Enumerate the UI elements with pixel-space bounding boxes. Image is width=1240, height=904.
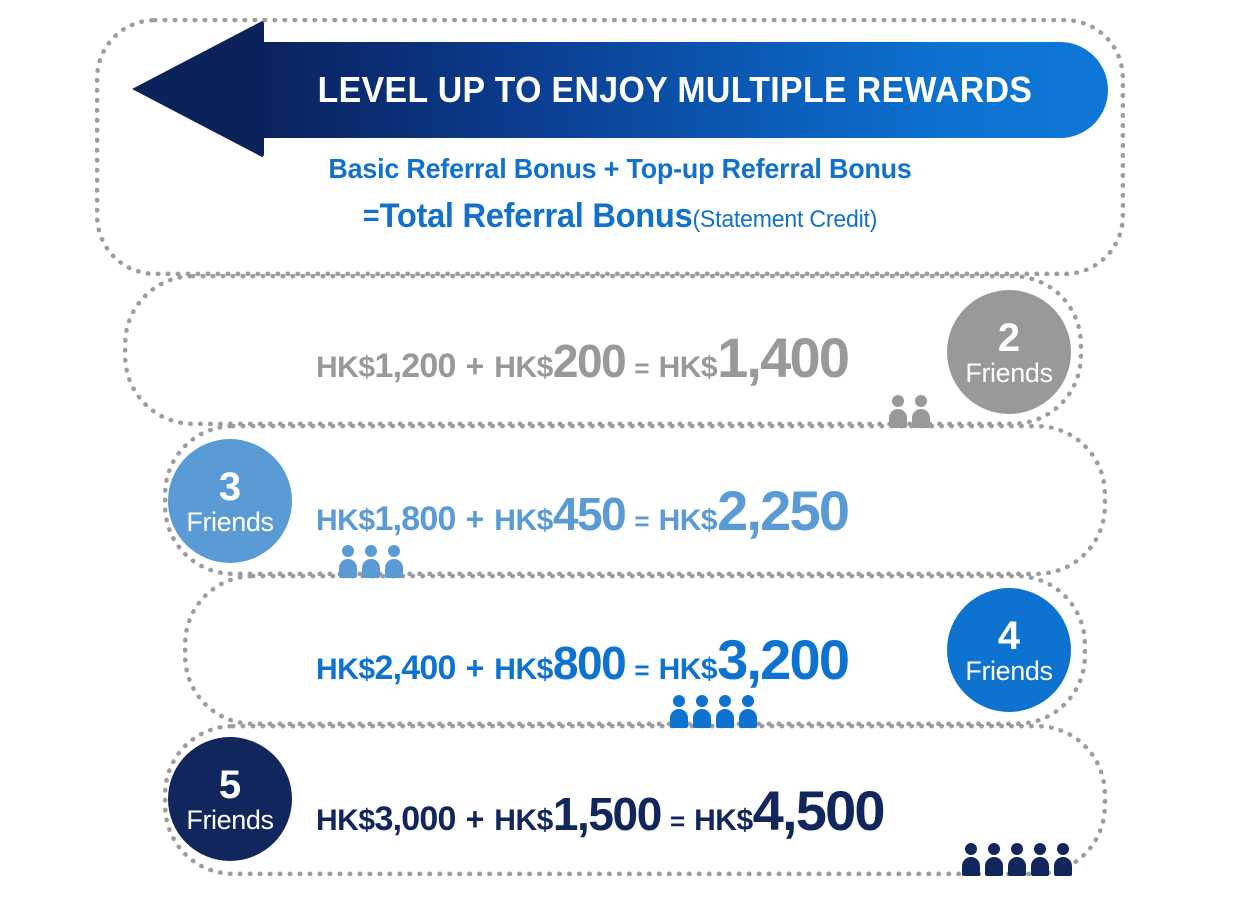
- equation-3-friends: HK$1,800 + HK$450 = HK$2,250: [316, 483, 848, 539]
- friends-count-3: 3: [219, 467, 241, 507]
- person-icon: [670, 695, 688, 728]
- currency-topup-2: HK$: [494, 353, 553, 383]
- person-icon: [1008, 843, 1026, 876]
- total-bonus-4: 3,200: [717, 632, 848, 688]
- person-icon: [912, 395, 930, 428]
- person-icon: [739, 695, 757, 728]
- people-icons-5: [962, 843, 1072, 876]
- person-icon: [962, 843, 980, 876]
- equation-2-friends: HK$1,200 + HK$200 = HK$1,400: [316, 330, 848, 386]
- equals-sign-5: =: [670, 808, 685, 834]
- person-icon: [385, 545, 403, 578]
- friends-count-2: 2: [998, 318, 1020, 358]
- currency-basic-3: HK$: [316, 506, 375, 536]
- subtitle-equals-sign: =: [363, 199, 380, 232]
- person-icon: [693, 695, 711, 728]
- total-bonus-5: 4,500: [753, 783, 884, 839]
- subtitle-total-label: Total Referral Bonus: [380, 197, 693, 235]
- topup-bonus-3: 450: [553, 491, 626, 537]
- currency-total-3: HK$: [659, 506, 718, 536]
- subtitle-line-1: Basic Referral Bonus + Top-up Referral B…: [178, 148, 1061, 190]
- currency-topup-4: HK$: [494, 655, 553, 685]
- currency-topup-3: HK$: [494, 506, 553, 536]
- plus-sign-5: +: [466, 803, 485, 835]
- friends-badge-2: 2 Friends: [947, 290, 1071, 414]
- person-icon: [985, 843, 1003, 876]
- friends-badge-4: 4 Friends: [947, 588, 1071, 712]
- plus-sign-4: +: [466, 652, 485, 684]
- topup-bonus-2: 200: [553, 338, 626, 384]
- equation-5-friends: HK$3,000 + HK$1,500 = HK$4,500: [316, 783, 884, 839]
- total-bonus-3: 2,250: [717, 483, 848, 539]
- people-icons-3: [339, 545, 403, 578]
- friends-label-2: Friends: [965, 360, 1052, 387]
- person-icon: [889, 395, 907, 428]
- friends-label-4: Friends: [965, 658, 1052, 685]
- plus-sign-2: +: [466, 350, 485, 382]
- subtitle-line-2: =Total Referral Bonus(Statement Credit): [178, 192, 1061, 247]
- page-title: LEVEL UP TO ENJOY MULTIPLE REWARDS: [268, 42, 1082, 138]
- basic-bonus-3: 1,800: [375, 502, 456, 536]
- plus-sign-3: +: [466, 503, 485, 535]
- friends-badge-3: 3 Friends: [168, 439, 292, 563]
- subtitle-formula: Basic Referral Bonus + Top-up Referral B…: [160, 148, 1080, 247]
- topup-bonus-4: 800: [553, 640, 626, 686]
- people-icons-2: [889, 395, 930, 428]
- left-arrow-icon: [132, 20, 264, 158]
- people-icons-4: [670, 695, 757, 728]
- friends-badge-5: 5 Friends: [168, 737, 292, 861]
- currency-basic-2: HK$: [316, 353, 375, 383]
- friends-label-3: Friends: [186, 509, 273, 536]
- header-banner: LEVEL UP TO ENJOY MULTIPLE REWARDS: [132, 20, 1108, 158]
- friends-label-5: Friends: [186, 807, 273, 834]
- person-icon: [1054, 843, 1072, 876]
- equation-4-friends: HK$2,400 + HK$800 = HK$3,200: [316, 632, 848, 688]
- subtitle-statement-credit-note: (Statement Credit): [692, 206, 877, 233]
- equals-sign-3: =: [634, 508, 649, 534]
- equals-sign-2: =: [634, 355, 649, 381]
- currency-topup-5: HK$: [494, 806, 553, 836]
- equals-sign-4: =: [634, 657, 649, 683]
- currency-total-2: HK$: [659, 353, 718, 383]
- friends-count-5: 5: [219, 765, 241, 805]
- currency-total-5: HK$: [694, 806, 753, 836]
- referral-rewards-infographic: LEVEL UP TO ENJOY MULTIPLE REWARDS Basic…: [0, 0, 1240, 904]
- basic-bonus-2: 1,200: [375, 349, 456, 383]
- topup-bonus-5: 1,500: [553, 791, 661, 837]
- person-icon: [362, 545, 380, 578]
- person-icon: [716, 695, 734, 728]
- currency-total-4: HK$: [659, 655, 718, 685]
- basic-bonus-5: 3,000: [375, 802, 456, 836]
- person-icon: [1031, 843, 1049, 876]
- currency-basic-4: HK$: [316, 655, 375, 685]
- person-icon: [339, 545, 357, 578]
- total-bonus-2: 1,400: [717, 330, 848, 386]
- basic-bonus-4: 2,400: [375, 651, 456, 685]
- currency-basic-5: HK$: [316, 806, 375, 836]
- friends-count-4: 4: [998, 616, 1020, 656]
